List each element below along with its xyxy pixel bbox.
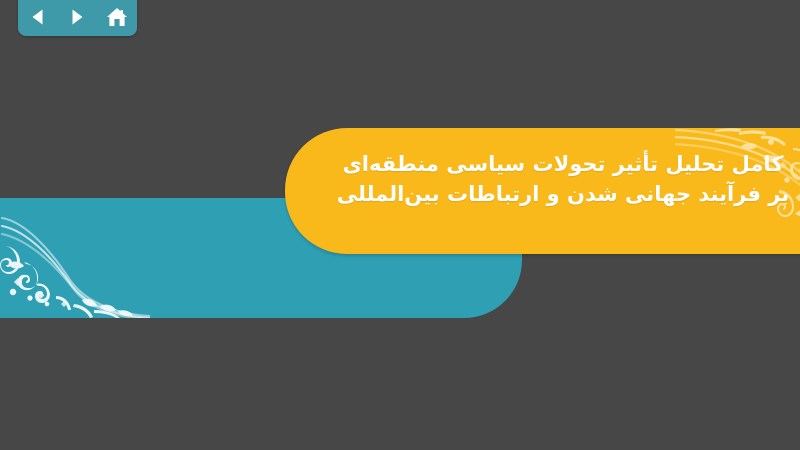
back-icon	[29, 8, 46, 26]
home-icon	[106, 7, 128, 27]
arabesque-ornament-icon	[0, 200, 150, 318]
title-line-1: کامل تحلیل تأثیر تحولات سیاسی منطقه‌ای	[329, 150, 797, 180]
home-button[interactable]	[104, 6, 130, 28]
slide-canvas: کامل تحلیل تأثیر تحولات سیاسی منطقه‌ای ب…	[0, 0, 800, 450]
forward-button[interactable]	[64, 6, 90, 28]
forward-icon	[69, 8, 86, 26]
navigation-bar	[18, 0, 137, 36]
orange-title-banner: کامل تحلیل تأثیر تحولات سیاسی منطقه‌ای ب…	[285, 128, 800, 254]
page-title: کامل تحلیل تأثیر تحولات سیاسی منطقه‌ای ب…	[329, 150, 797, 210]
title-line-2: بر فرآیند جهانی شدن و ارتباطات بین‌الملل…	[329, 180, 797, 210]
back-button[interactable]	[25, 6, 51, 28]
